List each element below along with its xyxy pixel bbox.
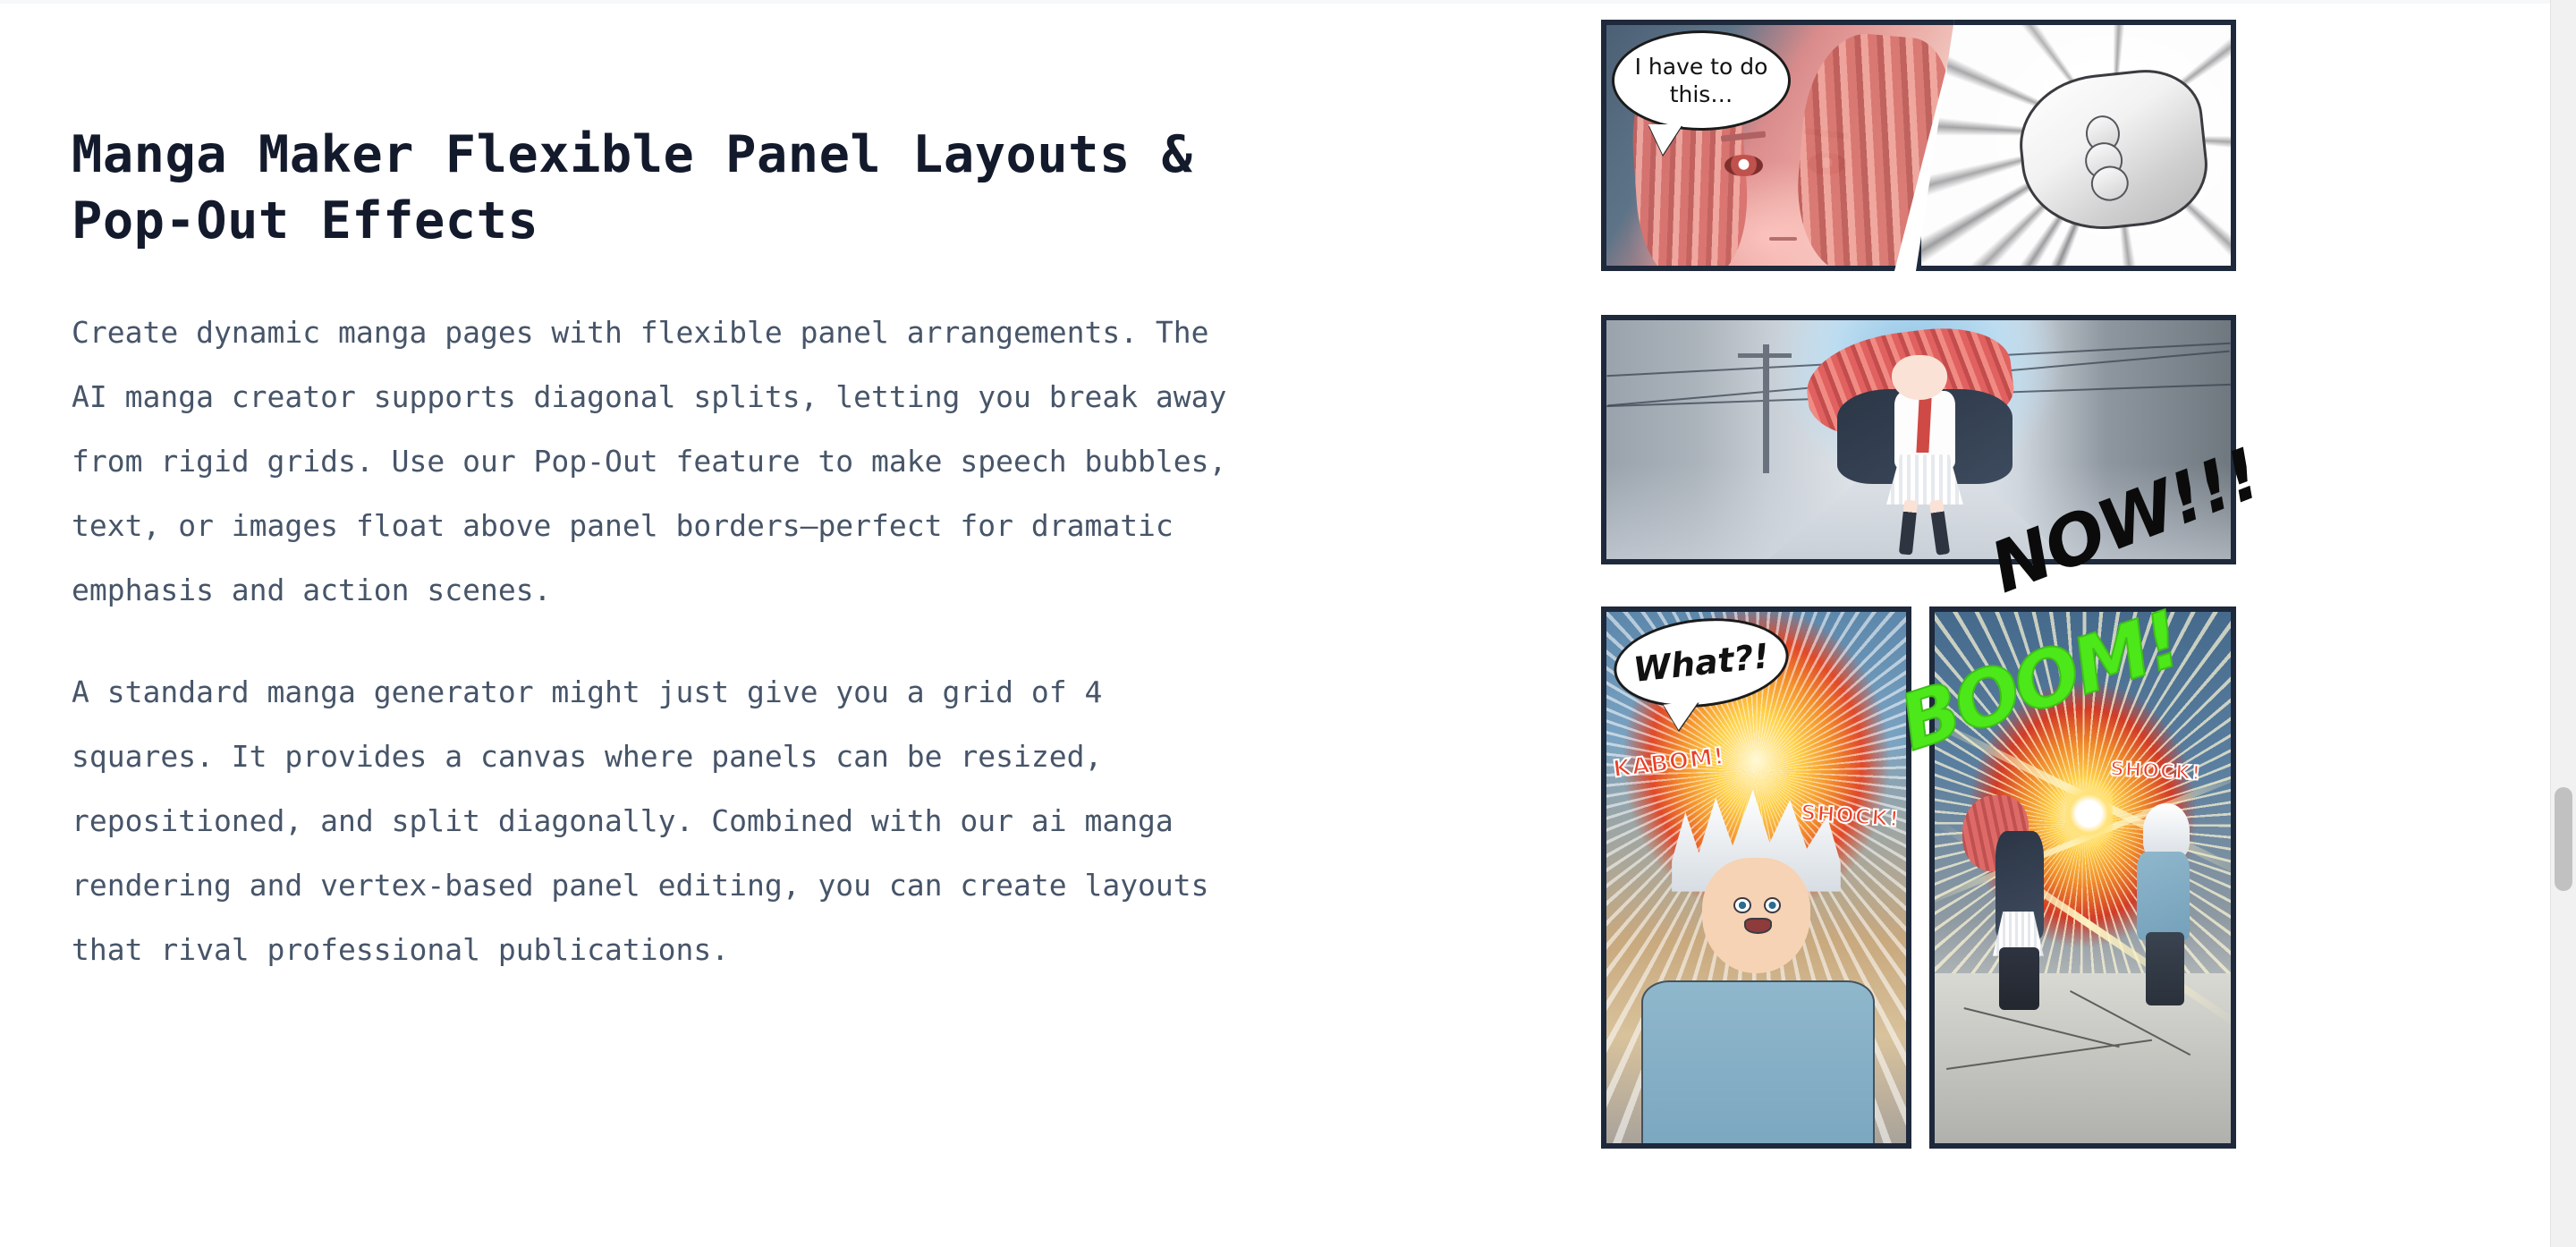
- manga-page: I have to do this…: [1601, 20, 2236, 1149]
- speech-bubble-text: I have to do this…: [1627, 53, 1775, 109]
- speech-bubble-i-have-to-do-this[interactable]: I have to do this…: [1612, 30, 1791, 131]
- body: [2137, 852, 2190, 940]
- panel-fist-art: [1921, 25, 2231, 266]
- mouth: [1744, 918, 1771, 934]
- panel-shocked-boy[interactable]: KABOM! SHOCK!: [1601, 607, 1911, 1149]
- clash-girl: [1982, 782, 2059, 1005]
- legs: [2146, 932, 2184, 1005]
- panel-running-street[interactable]: [1601, 315, 2236, 564]
- panel-running-street-art: [1606, 320, 2231, 559]
- page-title: Manga Maker Flexible Panel Layouts & Pop…: [72, 122, 1261, 254]
- running-girl: [1856, 332, 1994, 559]
- article-paragraph-2: A standard manga generator might just gi…: [72, 660, 1252, 982]
- leg-right: [1929, 499, 1951, 555]
- article-inner: Manga Maker Flexible Panel Layouts & Pop…: [0, 0, 1342, 982]
- shirt: [1641, 980, 1875, 1144]
- street-illustration: [1606, 320, 2231, 559]
- eyebrow-left: [1721, 131, 1767, 141]
- panel-fist[interactable]: [1916, 20, 2236, 271]
- fist-illustration: [1921, 25, 2231, 266]
- eyebrow-right: [1804, 128, 1850, 140]
- panel-clash[interactable]: SHOCK!: [1929, 607, 2236, 1149]
- manga-row-wide-street: [1601, 315, 2236, 564]
- face: [1702, 858, 1809, 973]
- mouth: [1769, 237, 1797, 241]
- article-paragraph-1: Create dynamic manga pages with flexible…: [72, 301, 1252, 623]
- manga-preview-column: I have to do this…: [1601, 0, 2551, 1247]
- eye-right: [1764, 897, 1782, 913]
- scrollbar-thumb[interactable]: [2555, 787, 2572, 891]
- clash-illustration: SHOCK!: [1935, 612, 2231, 1143]
- speech-bubble-tail: [1664, 701, 1702, 732]
- eye-left: [1724, 155, 1763, 176]
- sfx-kabom: KABOM!: [1611, 743, 1726, 784]
- manga-row-action-pair: KABOM! SHOCK!: [1601, 607, 2236, 1149]
- crack-1: [1964, 1007, 2120, 1048]
- impact-spark: [2065, 771, 2113, 856]
- utility-pole-crossbar: [1738, 353, 1792, 358]
- clash-boy: [2130, 803, 2200, 1005]
- eye-left: [1733, 897, 1751, 913]
- fist-shape: [2012, 64, 2213, 236]
- article-column: Manga Maker Flexible Panel Layouts & Pop…: [0, 0, 1601, 982]
- sfx-shock: SHOCK!: [2109, 759, 2201, 785]
- shocked-boy: [1660, 803, 1851, 1143]
- utility-pole: [1763, 344, 1769, 473]
- speech-bubble-tail: [1648, 124, 1682, 155]
- panel-clash-art: SHOCK!: [1935, 612, 2231, 1143]
- face: [1892, 355, 1946, 401]
- legs: [1999, 947, 2039, 1010]
- content-row: Manga Maker Flexible Panel Layouts & Pop…: [0, 0, 2551, 1247]
- panel-girl-closeup[interactable]: I have to do this…: [1601, 20, 1959, 271]
- page-root: Manga Maker Flexible Panel Layouts & Pop…: [0, 0, 2576, 1247]
- eye-right: [1808, 153, 1846, 174]
- speech-bubble-text: What?!: [1631, 636, 1771, 690]
- vertical-scrollbar[interactable]: [2550, 0, 2576, 1247]
- leg-left: [1899, 499, 1919, 555]
- crack-3: [1946, 1039, 2152, 1070]
- manga-row-diagonal-split: I have to do this…: [1601, 20, 2236, 271]
